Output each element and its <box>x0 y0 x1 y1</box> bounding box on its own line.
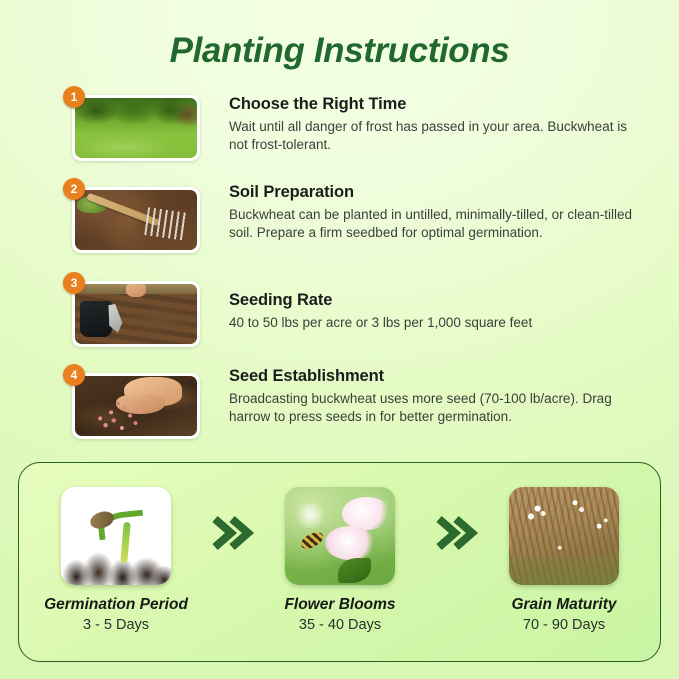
step-4-thumbnail: 4 <box>72 373 200 439</box>
step-4-text: Seed Establishment Broadcasting buckwhea… <box>229 367 649 425</box>
stage-2-days: 35 - 40 Days <box>257 617 423 633</box>
step-2-body: Buckwheat can be planted in untilled, mi… <box>229 206 649 241</box>
step-3-body: 40 to 50 lbs per acre or 3 lbs per 1,000… <box>229 314 649 332</box>
sprout-photo <box>61 487 171 585</box>
step-1-number-badge: 1 <box>63 86 85 108</box>
step-1-text: Choose the Right Time Wait until all dan… <box>229 95 649 153</box>
stage-1-days: 3 - 5 Days <box>33 617 199 633</box>
step-3-thumbnail: 3 <box>72 281 200 347</box>
step-3-number-badge: 3 <box>63 272 85 294</box>
stage-3-days: 70 - 90 Days <box>481 617 647 633</box>
step-3-heading: Seeding Rate <box>229 291 649 310</box>
step-4-number-badge: 4 <box>63 364 85 386</box>
step-2-heading: Soil Preparation <box>229 183 649 202</box>
sowing-seeds-photo <box>75 376 197 436</box>
step-1-body: Wait until all danger of frost has passe… <box>229 118 649 153</box>
double-chevron-right-icon-2 <box>433 511 479 555</box>
page-title: Planting Instructions <box>0 31 679 71</box>
stage-2-name: Flower Blooms <box>257 596 423 614</box>
planting-instructions-infographic: Planting Instructions 1 Choose the Right… <box>0 0 679 679</box>
step-4-body: Broadcasting buckwheat uses more seed (7… <box>229 390 649 425</box>
mature-field-photo <box>509 487 619 585</box>
step-4-heading: Seed Establishment <box>229 367 649 386</box>
step-1-thumbnail: 1 <box>72 95 200 161</box>
step-3-text: Seeding Rate 40 to 50 lbs per acre or 3 … <box>229 291 649 332</box>
lawn-photo <box>75 98 197 158</box>
growth-timeline-panel: Germination Period 3 - 5 Days Flower Blo… <box>18 462 661 662</box>
rake-soil-photo <box>75 190 197 250</box>
step-2-text: Soil Preparation Buckwheat can be plante… <box>229 183 649 241</box>
stage-1-name: Germination Period <box>33 596 199 614</box>
buckwheat-flowers-photo <box>285 487 395 585</box>
step-2-number-badge: 2 <box>63 178 85 200</box>
timeline-stage-maturity: Grain Maturity 70 - 90 Days <box>481 487 647 633</box>
stage-3-name: Grain Maturity <box>481 596 647 614</box>
timeline-stage-flowering: Flower Blooms 35 - 40 Days <box>257 487 423 633</box>
digging-photo <box>75 284 197 344</box>
double-chevron-right-icon-1 <box>209 511 255 555</box>
timeline-stage-germination: Germination Period 3 - 5 Days <box>33 487 199 633</box>
step-2-thumbnail: 2 <box>72 187 200 253</box>
step-1-heading: Choose the Right Time <box>229 95 649 114</box>
